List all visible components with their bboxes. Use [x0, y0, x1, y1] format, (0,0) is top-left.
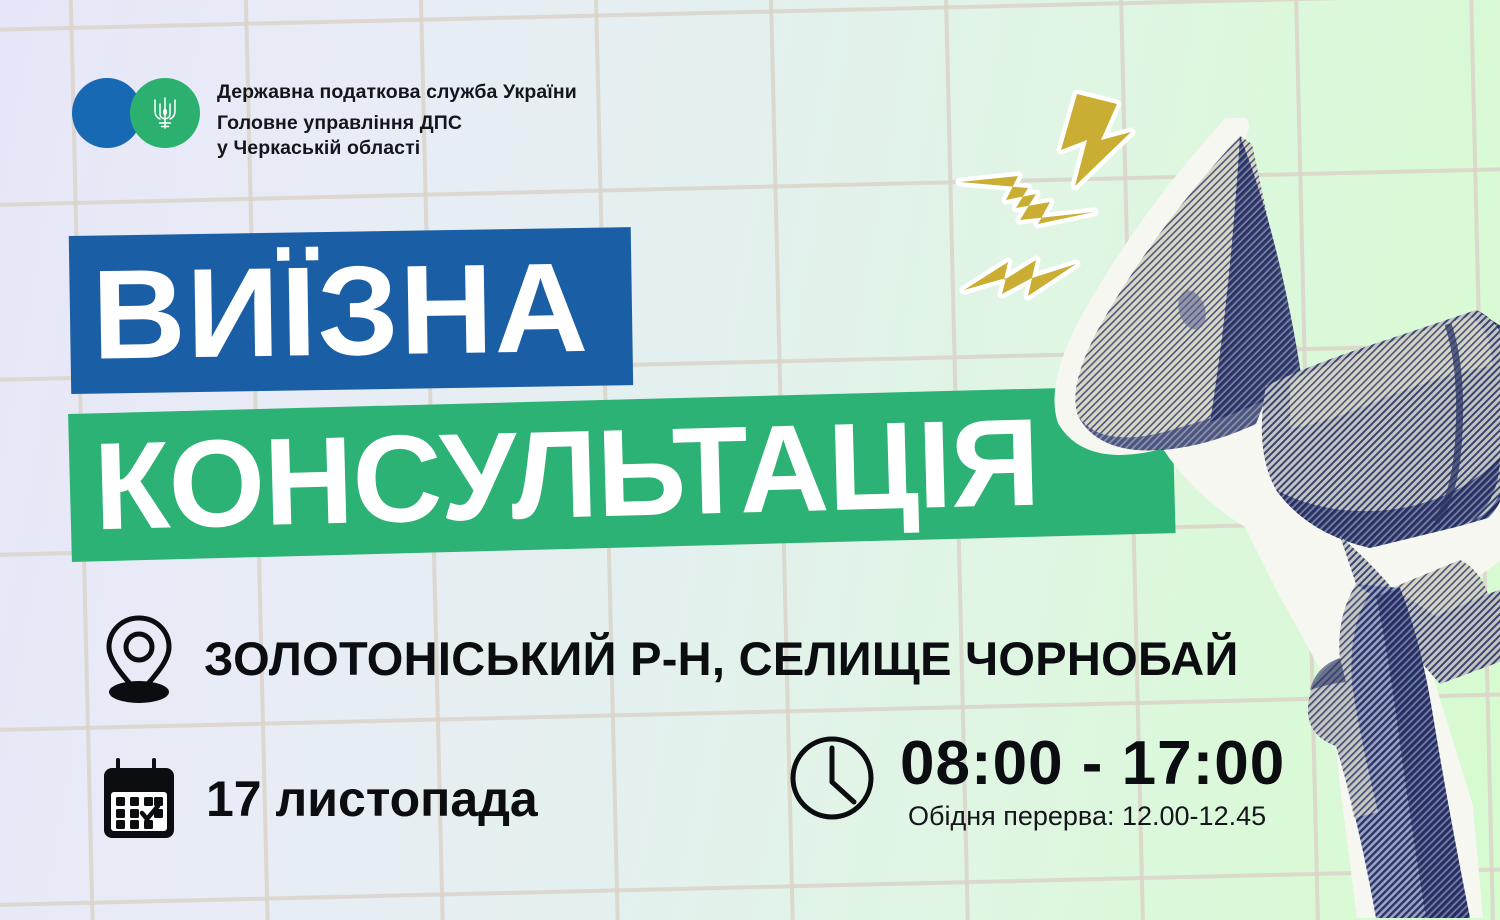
date-text: 17 листопада	[206, 770, 538, 828]
headline-line2: КОНСУЛЬТАЦІЯ	[92, 401, 1040, 550]
clock-icon	[786, 732, 878, 824]
org-name-line1: Державна податкова служба України	[217, 80, 577, 105]
org-name-line2: Головне управління ДПС	[217, 111, 577, 136]
organization-logo: Державна податкова служба України Головн…	[72, 78, 577, 161]
headline-band-green: КОНСУЛЬТАЦІЯ	[68, 385, 1175, 562]
time-range: 08:00 - 17:00	[900, 732, 1285, 795]
time-group: 08:00 - 17:00 Обідня перерва: 12.00-12.4…	[786, 732, 1285, 832]
logo-emblem	[72, 78, 200, 148]
green-circle-tryzub-icon	[130, 78, 200, 148]
tryzub-icon	[151, 94, 179, 132]
lunch-break-text: Обідня перерва: 12.00-12.45	[908, 801, 1285, 832]
calendar-icon	[96, 754, 182, 844]
poster-canvas: Державна податкова служба України Головн…	[0, 0, 1500, 920]
location-text: ЗОЛОТОНІСЬКИЙ Р-Н, СЕЛИЩЕ ЧОРНОБАЙ	[204, 631, 1239, 686]
details-block: ЗОЛОТОНІСЬКИЙ Р-Н, СЕЛИЩЕ ЧОРНОБАЙ	[96, 612, 1426, 844]
headline-line1: ВИЇЗНА	[91, 243, 590, 378]
org-name-line3: у Черкаській області	[217, 136, 577, 161]
date-group: 17 листопада	[96, 732, 786, 844]
logo-text-block: Державна податкова служба України Головн…	[217, 78, 577, 161]
date-time-row: 17 листопада 08:00 - 17:00 Обідня перерв…	[96, 732, 1426, 844]
location-row: ЗОЛОТОНІСЬКИЙ Р-Н, СЕЛИЩЕ ЧОРНОБАЙ	[96, 612, 1426, 704]
time-text-block: 08:00 - 17:00 Обідня перерва: 12.00-12.4…	[900, 732, 1285, 832]
headline-band-blue: ВИЇЗНА	[69, 227, 633, 394]
map-pin-icon	[96, 612, 182, 704]
